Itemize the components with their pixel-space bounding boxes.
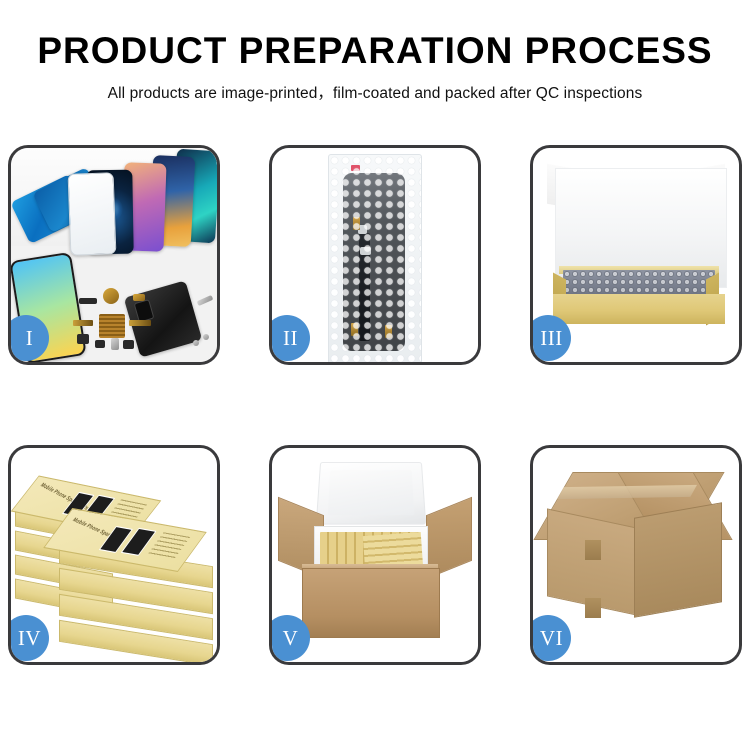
step-panel-5[interactable]: V — [269, 445, 481, 665]
step-panel-6[interactable]: VI — [530, 445, 742, 665]
step-panel-1[interactable]: I — [8, 145, 220, 365]
page-header: PRODUCT PREPARATION PROCESS All products… — [0, 0, 750, 103]
step-panel-3[interactable]: III — [530, 145, 742, 365]
step-panel-4[interactable]: Mobile Phone Spare Parts Mobile Phone Sp… — [8, 445, 220, 665]
page-title: PRODUCT PREPARATION PROCESS — [0, 0, 750, 69]
step-panel-2[interactable]: II — [269, 145, 481, 365]
process-steps-grid: I II — [8, 145, 742, 681]
page-subtitle: All products are image-printed，film-coat… — [0, 69, 750, 103]
